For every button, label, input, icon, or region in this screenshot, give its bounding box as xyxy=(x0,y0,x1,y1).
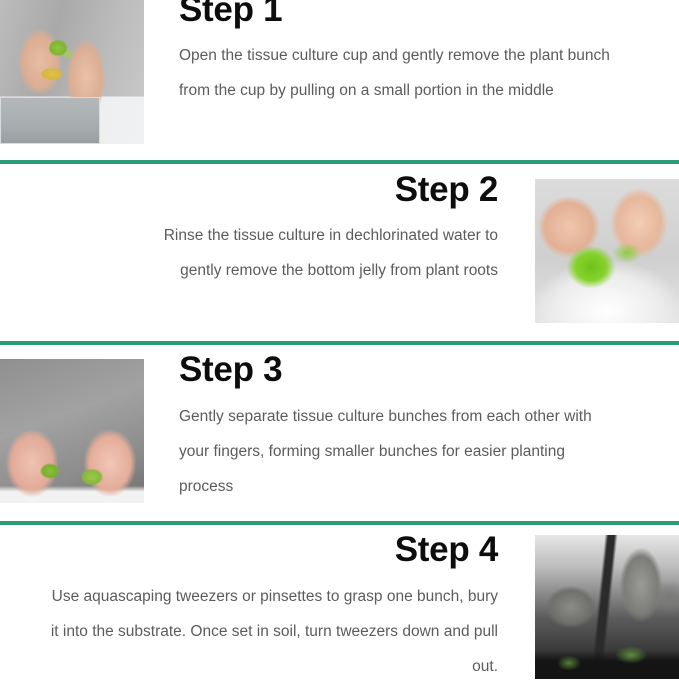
step-row-3: Step 3 Gently separate tissue culture bu… xyxy=(0,346,679,521)
photo-content xyxy=(535,179,679,323)
step-2-body: Rinse the tissue culture in dechlorinate… xyxy=(140,218,498,288)
step-1-text-block: Step 1 Open the tissue culture cup and g… xyxy=(179,0,645,108)
step-2-title: Step 2 xyxy=(140,172,498,207)
divider-2 xyxy=(0,341,679,345)
step-2-photo-hands-rinsing-plant-in-bowl xyxy=(535,179,679,323)
step-3-body: Gently separate tissue culture bunches f… xyxy=(179,399,619,504)
step-row-4: Step 4 Use aquascaping tweezers or pinse… xyxy=(0,526,679,683)
photo-content xyxy=(0,359,144,503)
photo-content xyxy=(535,535,679,679)
step-3-text-block: Step 3 Gently separate tissue culture bu… xyxy=(179,351,619,504)
divider-1 xyxy=(0,160,679,164)
step-1-body: Open the tissue culture cup and gently r… xyxy=(179,38,645,108)
step-3-title: Step 3 xyxy=(179,352,619,387)
divider-3 xyxy=(0,521,679,525)
step-row-2: Step 2 Rinse the tissue culture in dechl… xyxy=(0,165,679,341)
step-4-photo-aquascape-rocks-substrate-tweezers xyxy=(535,535,679,679)
step-2-text-block: Step 2 Rinse the tissue culture in dechl… xyxy=(140,171,498,288)
photo-content xyxy=(0,0,144,144)
step-3-photo-hands-separating-plant-bunches xyxy=(0,359,144,503)
step-row-1: Step 1 Open the tissue culture cup and g… xyxy=(0,0,679,160)
steps-infographic: Step 1 Open the tissue culture cup and g… xyxy=(0,0,679,683)
step-4-body: Use aquascaping tweezers or pinsettes to… xyxy=(46,579,498,684)
step-4-title: Step 4 xyxy=(46,532,498,567)
step-1-photo-hands-opening-tissue-culture-cup xyxy=(0,0,144,144)
step-4-text-block: Step 4 Use aquascaping tweezers or pinse… xyxy=(46,531,498,684)
step-1-title: Step 1 xyxy=(179,0,645,27)
